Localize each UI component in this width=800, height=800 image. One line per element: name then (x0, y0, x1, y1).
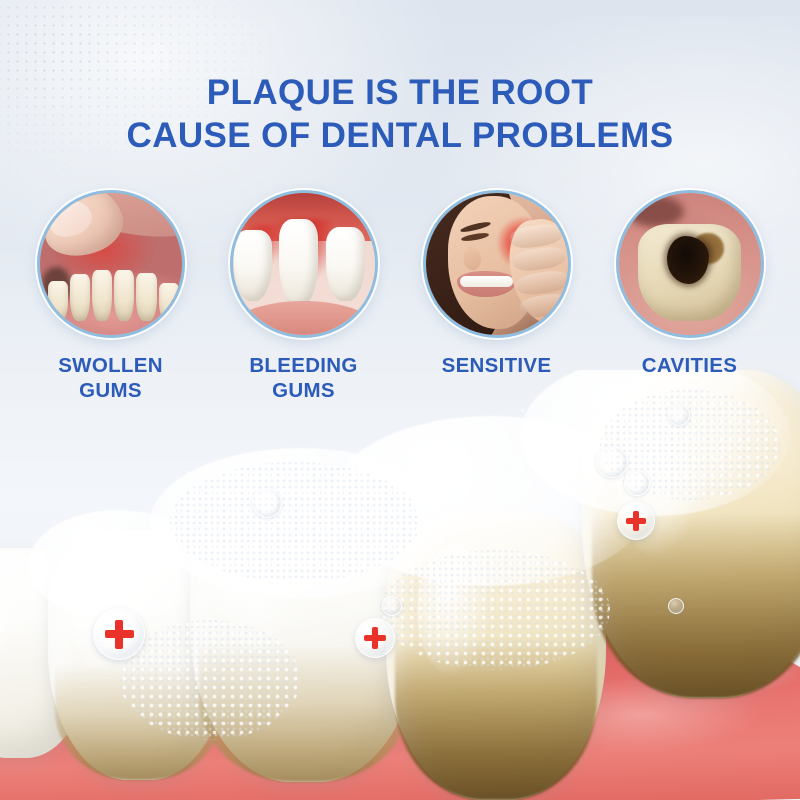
tooth-shape (92, 270, 112, 321)
tooth-shape (159, 283, 179, 321)
caption-line: GUMS (58, 378, 163, 403)
sparkle (300, 452, 305, 457)
incisor-shape (234, 230, 272, 301)
caption-line: GUMS (249, 378, 357, 403)
page-title-line-2: CAUSE OF DENTAL PROBLEMS (0, 115, 800, 158)
caption-line: BLEEDING (249, 353, 357, 378)
water-droplet-bubble (624, 470, 650, 496)
problem-caption-sensitive: SENSITIVE (442, 353, 552, 378)
water-droplet-bubble (252, 488, 282, 518)
sparkle (520, 408, 525, 413)
tooth-shape (70, 274, 90, 321)
hero-teeth-illustration (0, 370, 800, 800)
incisor-shape (279, 219, 317, 307)
page-title-line-1: PLAQUE IS THE ROOT (0, 72, 800, 115)
problem-caption-cavities: CAVITIES (642, 353, 737, 378)
mouth-shadow (627, 196, 684, 227)
water-droplet-bubble (668, 598, 684, 614)
red-cross-icon (364, 627, 386, 649)
finger-shape (515, 268, 570, 296)
problem-caption-swollen-gums: SWOLLEN GUMS (58, 353, 163, 403)
teeth-row (48, 261, 179, 321)
problem-photo-cavities (616, 190, 764, 338)
caption-line: CAVITIES (642, 353, 737, 378)
finger-shape (518, 291, 570, 319)
problem-item-cavities[interactable]: CAVITIES (616, 190, 764, 378)
problem-circle-row: SWOLLEN GUMS BLEEDING GUMS (0, 190, 800, 405)
problem-caption-bleeding-gums: BLEEDING GUMS (249, 353, 357, 403)
lower-lip-shape (230, 301, 378, 338)
problem-photo-swollen-gums (37, 190, 185, 338)
nose-shape (464, 247, 481, 270)
water-droplet-bubble (596, 446, 628, 478)
sensitive-teeth-image (426, 193, 568, 335)
problem-photo-sensitive (423, 190, 571, 338)
caption-line: SWOLLEN (58, 353, 163, 378)
water-droplet-bubble (382, 596, 402, 616)
bleeding-gums-image (233, 193, 375, 335)
red-cross-icon (626, 511, 647, 532)
tooth-shape (114, 270, 134, 321)
tooth-shape (136, 273, 156, 321)
marker-middle-tooth-red-cross-icon[interactable] (355, 618, 395, 658)
page-title: PLAQUE IS THE ROOT CAUSE OF DENTAL PROBL… (0, 72, 800, 157)
sparkle (462, 424, 468, 430)
problem-photo-bleeding-gums (230, 190, 378, 338)
swollen-gums-image (40, 193, 182, 335)
incisor-shape (326, 227, 364, 301)
marker-right-tooth-red-cross-icon[interactable] (617, 502, 655, 540)
cavity-image (619, 193, 761, 335)
foam-bubble-texture (120, 620, 300, 740)
sparkle (186, 470, 190, 474)
problem-item-swollen-gums[interactable]: SWOLLEN GUMS (37, 190, 185, 403)
foam-bubble-texture (170, 462, 420, 582)
problem-item-bleeding-gums[interactable]: BLEEDING GUMS (230, 190, 378, 403)
tooth-shape (48, 281, 68, 320)
marker-left-tooth-red-cross-icon[interactable] (93, 608, 145, 660)
water-droplet-bubble (668, 404, 690, 426)
foam-bubble-texture (380, 550, 610, 670)
teeth-strip (460, 276, 512, 288)
red-cross-icon (105, 620, 134, 649)
problem-item-sensitive[interactable]: SENSITIVE (423, 190, 571, 378)
caption-line: SENSITIVE (442, 353, 552, 378)
finger-shape (512, 245, 567, 273)
